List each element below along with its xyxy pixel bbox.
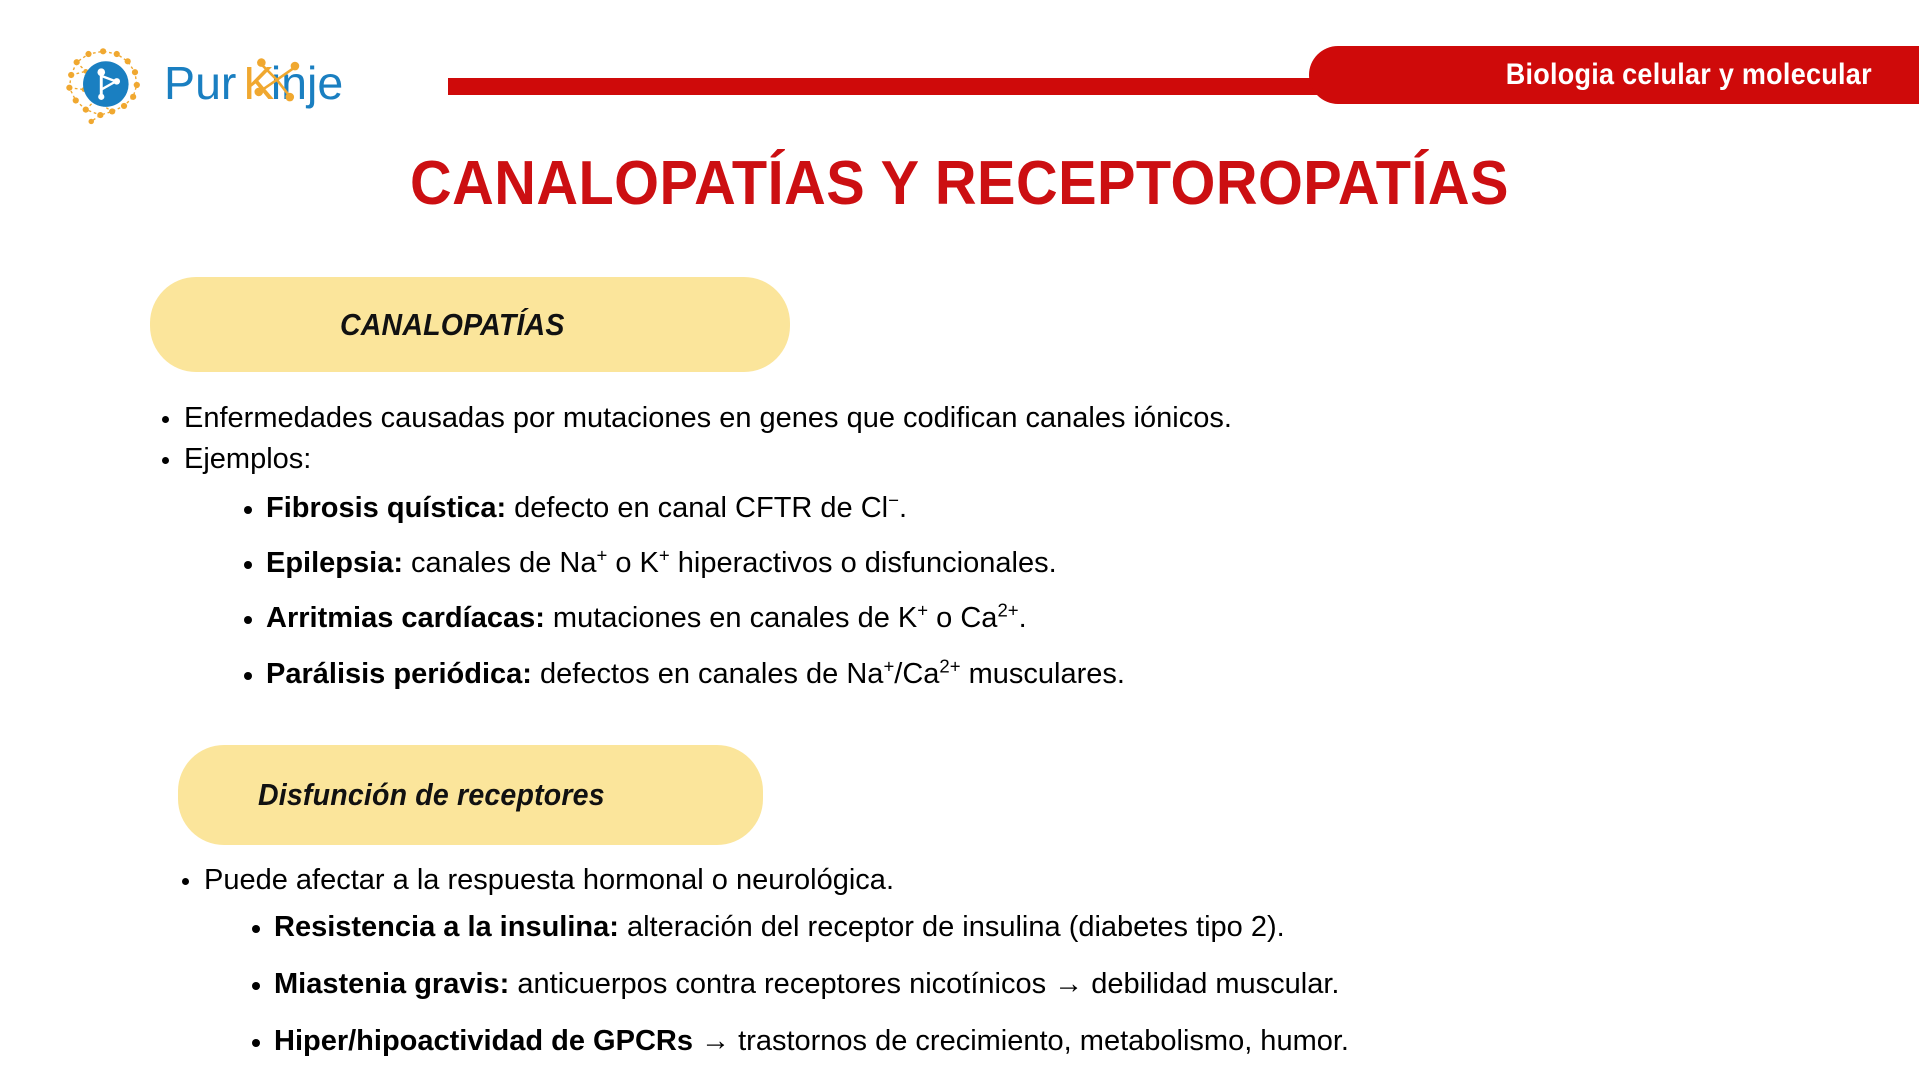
term-description-mid: o Ca [928, 602, 997, 634]
list-item: Resistencia a la insulina: alteración de… [244, 909, 1870, 946]
term-description-tail: musculares. [961, 658, 1125, 690]
term-description-tail: . [1019, 602, 1027, 634]
charge-superscript: + [917, 600, 928, 621]
course-banner: Biologia celular y molecular [1309, 46, 1919, 104]
charge-superscript: − [888, 490, 899, 511]
list-item: Enfermedades causadas por mutaciones en … [150, 400, 1850, 437]
course-banner-label: Biologia celular y molecular [1506, 58, 1872, 92]
svg-text:inje: inje [271, 57, 343, 109]
term-description-tail: . [899, 492, 907, 524]
term-description: → trastornos de crecimiento, metabolismo… [693, 1025, 1349, 1057]
bullet-text: Ejemplos: [184, 443, 311, 475]
charge-superscript: 2+ [939, 655, 960, 676]
list-item: Fibrosis quística: defecto en canal CFTR… [236, 490, 1850, 527]
term-description-mid: o K [607, 547, 659, 579]
term-label: Parálisis periódica: [266, 658, 532, 690]
term-description-tail: hiperactivos o disfuncionales. [670, 547, 1057, 579]
bullet-text: Puede afectar a la respuesta hormonal o … [204, 864, 894, 896]
term-label: Resistencia a la insulina: [274, 911, 619, 943]
charge-superscript: + [596, 545, 607, 566]
term-description: anticuerpos contra receptores nicotínico… [509, 968, 1339, 1000]
sub-bullet-list-examples: Fibrosis quística: defecto en canal CFTR… [184, 490, 1850, 692]
list-item: Arritmias cardíacas: mutaciones en canal… [236, 600, 1850, 637]
section-pill-label: Disfunción de receptores [258, 777, 605, 813]
header-red-rule [448, 78, 1448, 95]
term-description: mutaciones en canales de K [545, 602, 917, 634]
term-description: canales de Na [403, 547, 596, 579]
list-item: Puede afectar a la respuesta hormonal o … [170, 862, 1870, 1060]
slide-header: Pur K inje Biologia celular y molecular [0, 0, 1919, 140]
bullet-list-canalopatias: Enfermedades causadas por mutaciones en … [150, 400, 1850, 693]
section-pill-canalopatias: CANALOPATÍAS [150, 277, 790, 372]
sub-bullet-list-receptores: Resistencia a la insulina: alteración de… [204, 909, 1870, 1060]
section-pill-label: CANALOPATÍAS [340, 307, 565, 343]
list-item: Hiper/hipoactividad de GPCRs → trastorno… [244, 1023, 1870, 1060]
section-pill-disfuncion-receptores: Disfunción de receptores [178, 745, 763, 845]
term-description: defecto en canal CFTR de Cl [506, 492, 888, 524]
term-label: Hiper/hipoactividad de GPCRs [274, 1025, 693, 1057]
term-label: Fibrosis quística: [266, 492, 506, 524]
list-item: Epilepsia: canales de Na+ o K+ hiperacti… [236, 545, 1850, 582]
section-body-canalopatias: Enfermedades causadas por mutaciones en … [150, 400, 1850, 711]
term-label: Arritmias cardíacas: [266, 602, 545, 634]
brand-wordmark-icon: Pur K inje [164, 54, 388, 116]
brand-logo: Pur K inje [58, 44, 388, 126]
bullet-text: Enfermedades causadas por mutaciones en … [184, 402, 1232, 434]
list-item: Parálisis periódica: defectos en canales… [236, 656, 1850, 693]
term-description: defectos en canales de Na [532, 658, 883, 690]
term-description-mid: /Ca [894, 658, 939, 690]
page-title: CANALOPATÍAS Y RECEPTOROPATÍAS [67, 148, 1852, 219]
term-label: Epilepsia: [266, 547, 403, 579]
term-description: alteración del receptor de insulina (dia… [619, 911, 1285, 943]
bullet-list-receptores: Puede afectar a la respuesta hormonal o … [170, 862, 1870, 1060]
purkinje-neuron-network-logo-icon [58, 44, 150, 126]
list-item: Ejemplos: Fibrosis quística: defecto en … [150, 441, 1850, 693]
charge-superscript: + [659, 545, 670, 566]
charge-superscript: 2+ [997, 600, 1018, 621]
svg-text:Pur: Pur [164, 57, 236, 109]
charge-superscript: + [883, 655, 894, 676]
section-body-disfuncion-receptores: Puede afectar a la respuesta hormonal o … [170, 862, 1870, 1080]
list-item: Miastenia gravis: anticuerpos contra rec… [244, 966, 1870, 1003]
term-label: Miastenia gravis: [274, 968, 509, 1000]
